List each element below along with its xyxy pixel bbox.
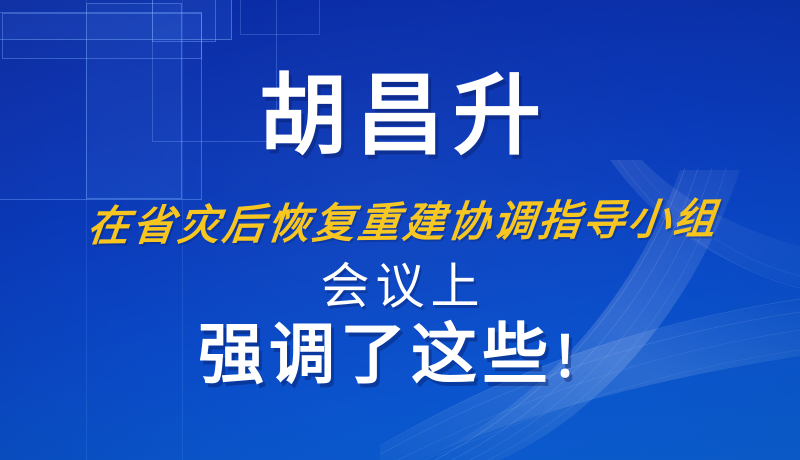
decorative-rectangle-outline <box>240 0 320 35</box>
poster-headline-subject: 胡昌升 <box>0 72 800 160</box>
poster-kicker-text: 强调了这些 <box>198 316 553 393</box>
poster-venue-line: 会议上 <box>0 262 800 311</box>
poster-banner: 胡昌升 在省灾后恢复重建协调指导小组 会议上 强调了这些！ <box>0 0 800 460</box>
poster-kicker-exclamation: ！ <box>551 326 607 391</box>
decorative-rectangle-outline <box>152 0 216 42</box>
decorative-rectangle-outline <box>2 13 202 59</box>
decorative-rectangle-outline <box>0 0 232 40</box>
poster-kicker-line: 强调了这些！ <box>0 322 800 388</box>
poster-context-line: 在省灾后恢复重建协调指导小组 <box>0 197 800 249</box>
